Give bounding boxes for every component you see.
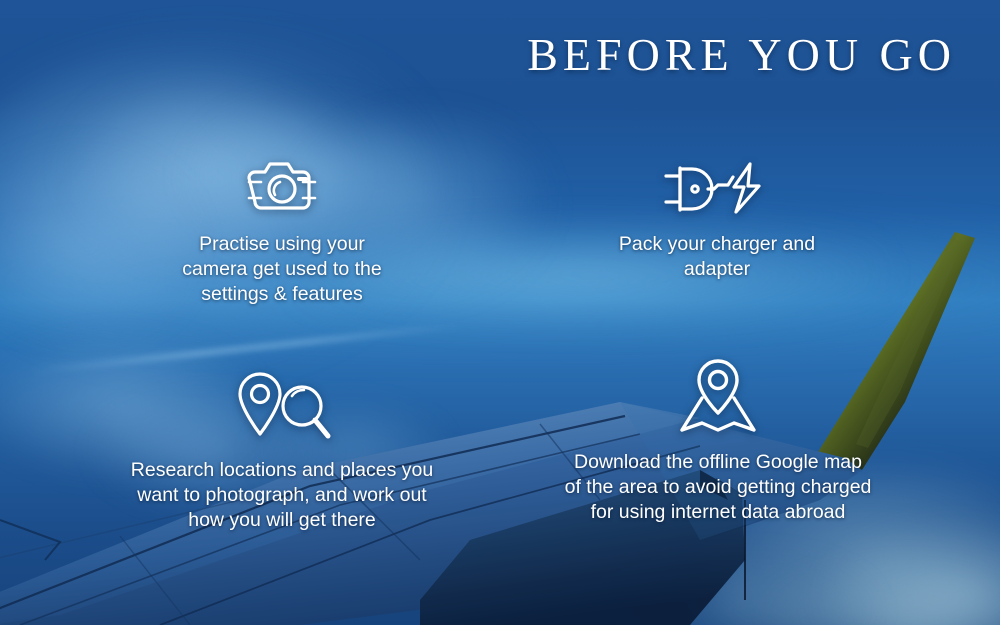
tip-offline-map: Download the offline Google map of the a… xyxy=(540,360,896,525)
tips-grid: Practise using your camera get used to t… xyxy=(0,0,1000,625)
plug-lightning-icon xyxy=(565,142,869,218)
tip-camera-text: Practise using your camera get used to t… xyxy=(130,232,434,307)
tip-camera: Practise using your camera get used to t… xyxy=(130,142,434,307)
tip-offline-map-text: Download the offline Google map of the a… xyxy=(540,450,896,525)
tip-charger: Pack your charger and adapter xyxy=(565,142,869,282)
tip-research-text: Research locations and places you want t… xyxy=(104,458,460,533)
folded-map-pin-icon xyxy=(540,360,896,436)
tip-charger-text: Pack your charger and adapter xyxy=(565,232,869,282)
tip-research: Research locations and places you want t… xyxy=(104,368,460,533)
map-pin-search-icon xyxy=(104,368,460,444)
camera-icon xyxy=(130,142,434,218)
slide-canvas: BEFORE YOU GO Practise using your camera… xyxy=(0,0,1000,625)
